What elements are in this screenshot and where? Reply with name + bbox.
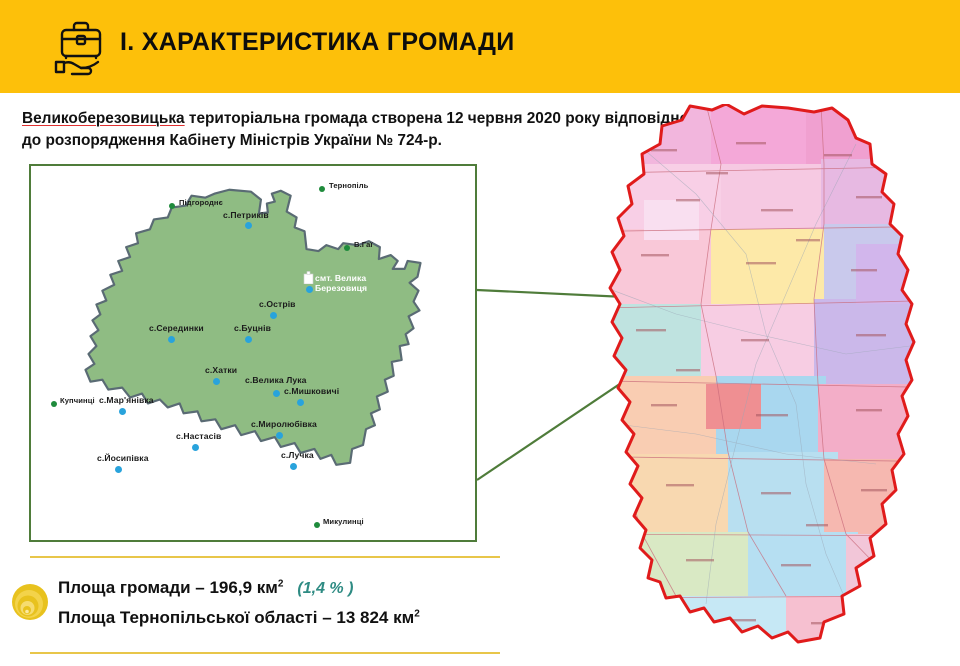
- village-dot: [270, 312, 277, 319]
- village-label: с.Йосипівка: [97, 454, 149, 464]
- village-dot: [245, 336, 252, 343]
- community-centre-label: смт. Велика Березовиця: [315, 274, 403, 293]
- page-title: I. ХАРАКТЕРИСТИКА ГРОМАДИ: [120, 28, 515, 57]
- divider-top: [30, 556, 500, 558]
- external-place-label: Купчинці: [60, 397, 95, 406]
- external-marker-dot: [344, 245, 350, 251]
- village-label: с.Серединки: [149, 324, 204, 334]
- village-label: с.Мар'янівка: [99, 396, 154, 406]
- intro-highlighted-word: Великоберезовицька: [22, 110, 185, 127]
- external-marker-dot: [314, 522, 320, 528]
- community-area-percent: (1,4 % ): [297, 580, 353, 597]
- external-place-label: Микулинці: [323, 518, 364, 527]
- oblast-area-sup: 2: [414, 608, 420, 619]
- village-dot: [213, 378, 220, 385]
- village-dot: [115, 466, 122, 473]
- intro-line2: до розпорядження Кабінету Міністрів Укра…: [22, 132, 442, 149]
- oblast-area-label: Площа Тернопільської області – 13 824 км: [58, 608, 414, 627]
- village-dot: [273, 390, 280, 397]
- community-inset-map[interactable]: Тернопіль Підгороднє В.Гаї Купчинці Мику…: [29, 164, 477, 542]
- external-place-label: Тернопіль: [329, 182, 368, 191]
- village-label: с.Настасів: [176, 432, 221, 442]
- community-centre-dot: [306, 286, 313, 293]
- village-label: с.Лучка: [281, 451, 314, 461]
- community-area-line: Площа громади – 196,9 км2(1,4 % ): [58, 578, 353, 598]
- oblast-area-line: Площа Тернопільської області – 13 824 км…: [58, 608, 420, 628]
- community-area-sup: 2: [278, 578, 284, 589]
- external-marker-dot: [169, 203, 175, 209]
- village-dot: [245, 222, 252, 229]
- village-dot: [297, 399, 304, 406]
- village-dot: [276, 432, 283, 439]
- area-stats-block: Площа громади – 196,9 км2(1,4 % ) Площа …: [30, 556, 510, 656]
- town-hall-building-icon: [303, 271, 314, 284]
- concentric-rings-icon: [10, 582, 50, 622]
- community-area-label: Площа громади – 196,9 км: [58, 578, 278, 597]
- slide-root: I. ХАРАКТЕРИСТИКА ГРОМАДИ Великоберезови…: [0, 0, 960, 666]
- village-dot: [168, 336, 175, 343]
- ternopil-oblast-map[interactable]: [556, 104, 960, 652]
- village-label: с.Буцнів: [234, 324, 271, 334]
- external-place-label: В.Гаї: [354, 241, 373, 250]
- village-label: с.Мишковичі: [284, 387, 339, 397]
- village-dot: [119, 408, 126, 415]
- village-label: с.Велика Лука: [245, 376, 307, 386]
- village-label: с.Петриків: [223, 211, 269, 221]
- header-band: I. ХАРАКТЕРИСТИКА ГРОМАДИ: [0, 0, 960, 93]
- external-marker-dot: [319, 186, 325, 192]
- village-label: с.Миролюбівка: [251, 420, 317, 430]
- village-dot: [290, 463, 297, 470]
- external-marker-dot: [51, 401, 57, 407]
- village-label: с.Хатки: [205, 366, 237, 376]
- village-label: с.Острів: [259, 300, 296, 310]
- briefcase-in-hand-icon: [48, 14, 114, 78]
- divider-bottom: [30, 652, 500, 654]
- village-dot: [192, 444, 199, 451]
- external-place-label: Підгороднє: [179, 199, 223, 208]
